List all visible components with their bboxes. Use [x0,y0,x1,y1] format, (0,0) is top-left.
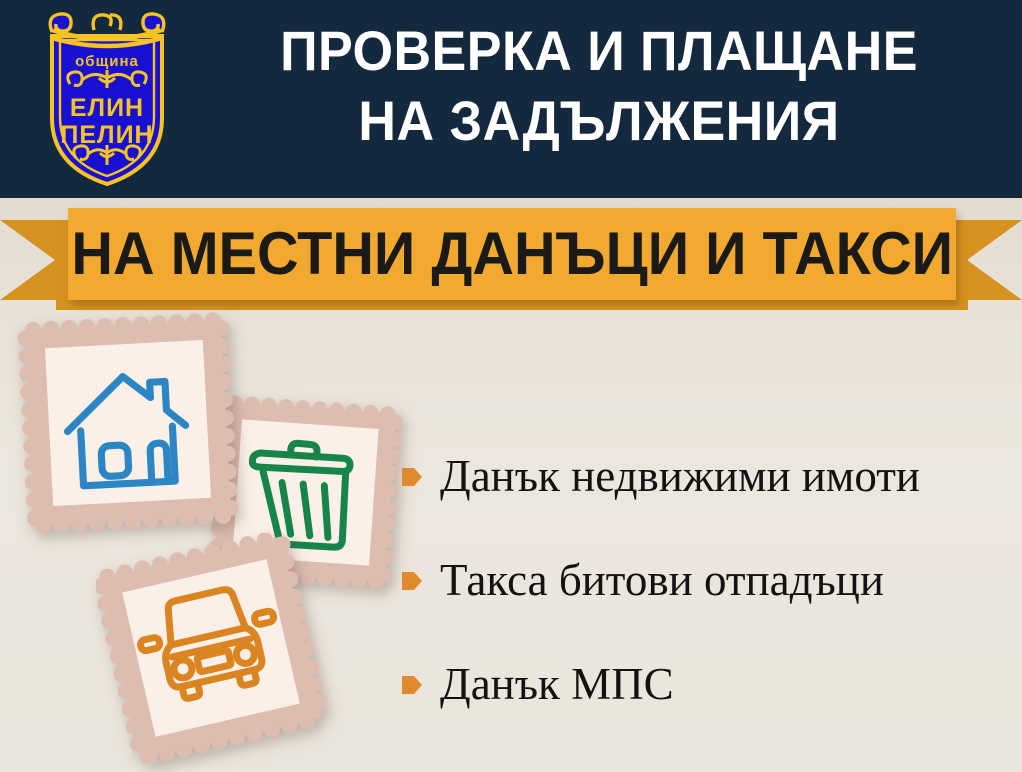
list-item-label: Данък МПС [440,660,674,708]
svg-text:ЕЛИН: ЕЛИН [70,94,144,122]
svg-text:ПЕЛИН: ПЕЛИН [60,121,153,149]
poster-canvas: община ЕЛИН ПЕЛИН [0,0,1022,772]
subtitle-ribbon: НА МЕСТНИ ДАНЪЦИ И ТАКСИ [0,198,1022,308]
title-line-1: ПРОВЕРКА И ПЛАЩАНЕ [280,19,918,82]
stamp-vehicle [96,533,326,763]
list-item: Данък недвижими имоти [402,424,1012,528]
list-item: Данък МПС [402,632,1012,736]
list-item: Такса битови отпадъци [402,528,1012,632]
title-line-2: НА ЗАДЪЛЖЕНИЯ [215,86,983,156]
page-title: ПРОВЕРКА И ПЛАЩАНЕ НА ЗАДЪЛЖЕНИЯ [215,16,983,156]
ribbon-panel: НА МЕСТНИ ДАНЪЦИ И ТАКСИ [68,208,956,300]
arrow-bullet-icon [402,674,422,696]
ribbon-label: НА МЕСТНИ ДАНЪЦИ И ТАКСИ [71,223,953,285]
tax-type-list: Данък недвижими имоти Такса битови отпад… [402,424,1012,736]
list-item-label: Данък недвижими имоти [440,452,920,500]
stamp-property [16,311,241,536]
arrow-bullet-icon [402,466,422,488]
header-bar: община ЕЛИН ПЕЛИН [0,0,1022,198]
municipality-logo: община ЕЛИН ПЕЛИН [36,8,178,188]
arrow-bullet-icon [402,570,422,592]
svg-text:община: община [75,53,139,70]
list-item-label: Такса битови отпадъци [440,556,884,604]
